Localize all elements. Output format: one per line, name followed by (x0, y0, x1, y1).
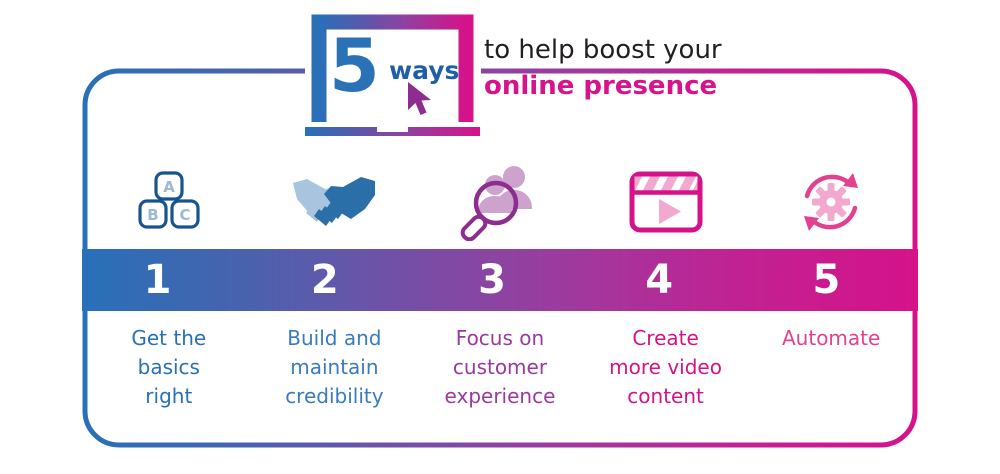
step-caption-4-line-1: Create (587, 324, 745, 353)
gear-refresh-automate-icon (793, 164, 869, 240)
headline: to help boost your online presence (484, 34, 954, 102)
step-5-icon-cell (748, 156, 914, 248)
step-3-icon-cell (417, 156, 583, 248)
step-caption-3-line-1: Focus on (421, 324, 579, 353)
magnifier-people-icon (460, 163, 540, 241)
svg-text:B: B (147, 206, 158, 224)
icons-row: A B C (86, 156, 914, 248)
big-number-five: 5 (329, 30, 378, 103)
step-caption-1: Get the basics right (86, 324, 252, 411)
svg-text:C: C (179, 206, 190, 224)
step-caption-1-line-1: Get the (90, 324, 248, 353)
video-clapperboard-play-icon (628, 168, 704, 236)
abc-blocks-icon: A B C (132, 165, 206, 239)
step-caption-3-line-3: experience (421, 382, 579, 411)
step-number-2: 2 (241, 260, 408, 300)
step-number-4: 4 (576, 260, 743, 300)
step-caption-2-line-2: maintain (256, 353, 414, 382)
step-caption-3: Focus on customer experience (417, 324, 583, 411)
step-caption-5-line-1: Automate (752, 324, 910, 353)
step-number-1: 1 (74, 260, 241, 300)
infographic-canvas: 5 ways to help boost your online presenc… (0, 0, 1000, 474)
step-caption-4-line-3: content (587, 382, 745, 411)
step-caption-5: Automate (748, 324, 914, 353)
handshake-icon (291, 169, 377, 235)
step-caption-2-line-3: credibility (256, 382, 414, 411)
step-1-icon-cell: A B C (86, 156, 252, 248)
step-caption-3-line-2: customer (421, 353, 579, 382)
step-caption-1-line-2: basics (90, 353, 248, 382)
step-number-5: 5 (743, 260, 910, 300)
laptop-headline-badge: 5 ways (305, 14, 480, 136)
svg-text:A: A (163, 178, 175, 196)
mouse-cursor-icon (405, 80, 435, 118)
step-caption-2: Build and maintain credibility (252, 324, 418, 411)
headline-line-1: to help boost your (484, 34, 954, 66)
step-4-icon-cell (583, 156, 749, 248)
captions-row: Get the basics right Build and maintain … (86, 324, 914, 411)
step-caption-4-line-2: more video (587, 353, 745, 382)
headline-line-2: online presence (484, 70, 954, 102)
step-number-bar: 1 2 3 4 5 (82, 249, 918, 311)
step-caption-1-line-3: right (90, 382, 248, 411)
step-caption-2-line-1: Build and (256, 324, 414, 353)
step-caption-4: Create more video content (583, 324, 749, 411)
step-number-3: 3 (408, 260, 575, 300)
step-2-icon-cell (252, 156, 418, 248)
